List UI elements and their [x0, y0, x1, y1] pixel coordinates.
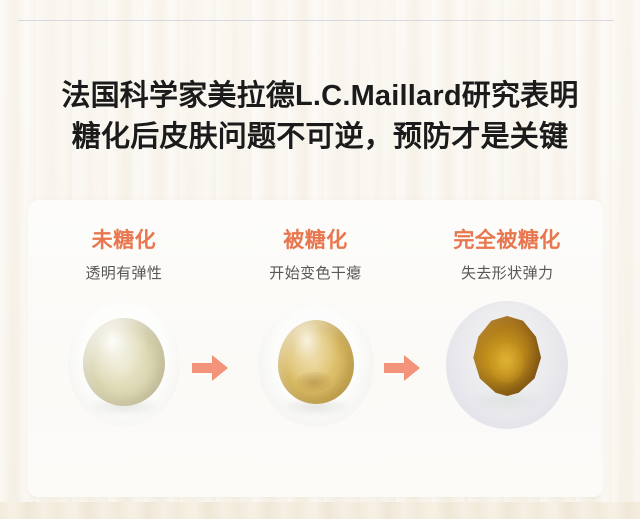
bottom-strip — [0, 502, 640, 519]
stage-1-title: 未糖化 — [92, 228, 157, 254]
page-headline: 法国科学家美拉德L.C.Maillard研究表明 糖化后皮肤问题不可逆，预防才是… — [0, 76, 640, 158]
top-divider — [18, 20, 614, 21]
egg-discolored-shrinking-icon — [278, 320, 354, 404]
stage-column-2: 被糖化 开始变色干瘪 — [220, 200, 412, 497]
arrow-right-icon — [384, 355, 420, 381]
egg-blemish — [297, 372, 331, 392]
stage-2-image — [241, 300, 391, 430]
egg-core-highlight — [490, 343, 524, 383]
headline-line-1: 法国科学家美拉德L.C.Maillard研究表明 — [0, 76, 640, 117]
arrow-right-icon — [192, 355, 228, 381]
stage-3-image — [432, 300, 582, 430]
stage-columns: 未糖化 透明有弹性 被糖化 开始变色干瘪 完全被糖化 失去形状弹力 — [28, 200, 603, 497]
stage-2-subtitle: 开始变色干瘪 — [269, 264, 361, 284]
stage-3-subtitle: 失去形状弹力 — [461, 264, 553, 284]
stage-2-title: 被糖化 — [283, 228, 348, 254]
stage-1-image — [49, 300, 199, 430]
stage-column-1: 未糖化 透明有弹性 — [28, 200, 220, 497]
stage-1-subtitle: 透明有弹性 — [85, 264, 162, 284]
egg-clear-elastic-icon — [83, 318, 165, 406]
headline-line-2: 糖化后皮肤问题不可逆，预防才是关键 — [0, 117, 640, 158]
stage-3-title: 完全被糖化 — [453, 228, 561, 254]
infographic-page: 法国科学家美拉德L.C.Maillard研究表明 糖化后皮肤问题不可逆，预防才是… — [0, 0, 640, 519]
stage-column-3: 完全被糖化 失去形状弹力 — [411, 200, 603, 497]
